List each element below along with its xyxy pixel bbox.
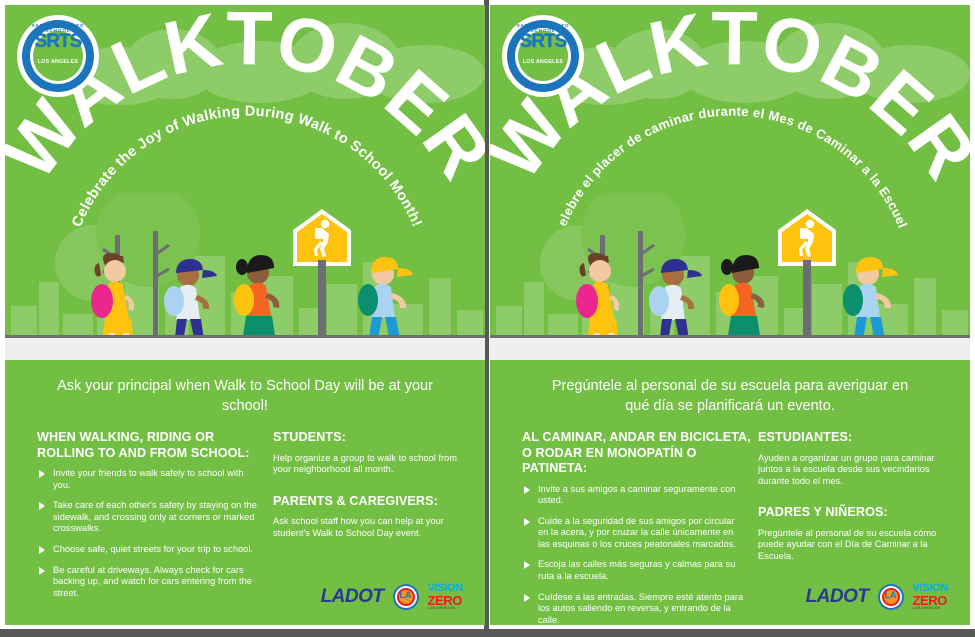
safety-bullet-list: Invite your friends to walk safely to sc… xyxy=(37,468,273,608)
seal-monogram: LA xyxy=(393,590,419,600)
la-city-seal-icon: LA xyxy=(393,584,419,610)
students-body: Help organize a group to walk to school … xyxy=(273,453,461,476)
srts-arc-bottom: CALIFORNIA xyxy=(19,84,97,89)
footer-logos-en: LADOT LA VISION ZERO LOS ANGELES xyxy=(321,583,463,611)
safety-column-es: AL CAMINAR, ANDAR EN BICICLETA, O RODAR … xyxy=(490,430,758,625)
parents-heading: PARENTS & CAREGIVERS: xyxy=(273,494,461,510)
parents-heading: PADRES Y NIÑEROS: xyxy=(758,505,946,521)
vision-zero-logo: VISION ZERO LOS ANGELES xyxy=(428,583,464,611)
hero-english: WALKTOBER Celebrate the Joy of Walking D… xyxy=(5,5,485,360)
hero-spanish: WALKTOBER ¡Celebre el placer de caminar … xyxy=(490,5,970,360)
vision-zero-logo: VISION ZERO LOS ANGELES xyxy=(913,583,949,611)
list-item: Cuídese a las entradas. Siempre esté ate… xyxy=(522,592,758,625)
list-item: Be careful at driveways. Always check fo… xyxy=(37,565,273,609)
content-columns-en: WHEN WALKING, RIDING OR ROLLING TO AND F… xyxy=(5,430,485,608)
sidewalk xyxy=(490,338,970,360)
list-item: Invite a sus amigos a caminar segurament… xyxy=(522,484,758,516)
list-item: Cuide a la seguridad de sus amigos por c… xyxy=(522,516,758,560)
list-item: Invite your friends to walk safely to sc… xyxy=(37,468,273,500)
srts-arc-bottom: CALIFORNIA xyxy=(504,84,582,89)
safety-column-en: WHEN WALKING, RIDING OR ROLLING TO AND F… xyxy=(5,430,273,608)
parents-body: Pregúntele al personal de su escuela cóm… xyxy=(758,528,946,563)
safety-bullet-list: Invite a sus amigos a caminar segurament… xyxy=(522,484,758,626)
students-body: Ayuden a organizar un grupo para caminar… xyxy=(758,453,946,488)
sidewalk xyxy=(5,338,485,360)
poster-spanish: WALKTOBER ¡Celebre el placer de caminar … xyxy=(490,5,970,625)
cta-text: Ask your principal when Walk to School D… xyxy=(5,360,485,416)
list-item: Take care of each other's safety by stay… xyxy=(37,500,273,544)
srts-logo-icon: SAFE ROUTES TO SCHOOL SRTS LOS ANGELES C… xyxy=(504,17,582,95)
cta-text: Pregúntele al personal de su escuela par… xyxy=(490,360,970,416)
poster-english: WALKTOBER Celebrate the Joy of Walking D… xyxy=(5,5,485,625)
ladot-text: LADOT xyxy=(321,586,384,607)
safety-heading: WHEN WALKING, RIDING OR ROLLING TO AND F… xyxy=(37,430,273,461)
ladot-text: LADOT xyxy=(806,586,869,607)
ladot-logo: LADOT xyxy=(321,586,384,608)
seal-monogram: LA xyxy=(878,590,904,600)
cta-block-es: Pregúntele al personal de su escuela par… xyxy=(490,360,970,416)
students-heading: STUDENTS: xyxy=(273,430,461,446)
ladot-logo: LADOT xyxy=(806,586,869,608)
srts-monogram: SRTS xyxy=(504,31,582,53)
footer-logos-es: LADOT LA VISION ZERO LOS ANGELES xyxy=(806,583,948,611)
srts-logo-icon: SAFE ROUTES TO SCHOOL SRTS LOS ANGELES C… xyxy=(19,17,97,95)
students-heading: ESTUDIANTES: xyxy=(758,430,946,446)
srts-banner: LOS ANGELES xyxy=(30,59,86,65)
safety-heading: AL CAMINAR, ANDAR EN BICICLETA, O RODAR … xyxy=(522,430,758,477)
la-city-seal-icon: LA xyxy=(878,584,904,610)
parents-body: Ask school staff how you can help at you… xyxy=(273,516,461,539)
bottom-bar xyxy=(0,629,975,637)
srts-monogram: SRTS xyxy=(19,31,97,53)
cta-block-en: Ask your principal when Walk to School D… xyxy=(5,360,485,416)
srts-banner: LOS ANGELES xyxy=(515,59,571,65)
list-item: Choose safe, quiet streets for your trip… xyxy=(37,544,273,565)
poster-pair-screen: WALKTOBER Celebrate the Joy of Walking D… xyxy=(0,0,975,637)
list-item: Escoja las calles más seguras y calmas p… xyxy=(522,559,758,591)
subhead-text-en: Celebrate the Joy of Walking During Walk… xyxy=(69,104,425,230)
